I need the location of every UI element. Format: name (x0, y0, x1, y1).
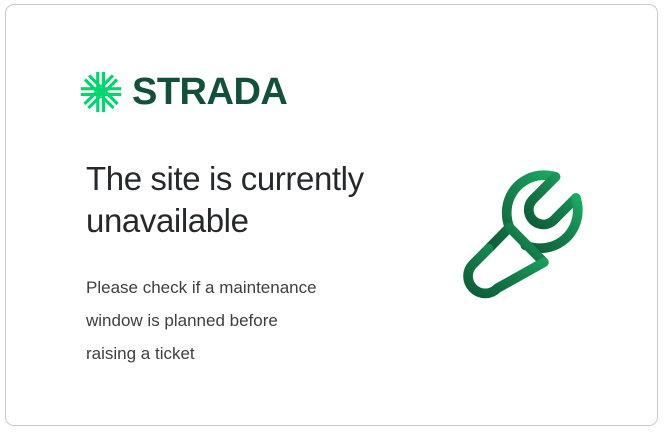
page-description: Please check if a maintenance window is … (86, 271, 406, 370)
brand-lockup: STRADA (80, 71, 287, 113)
wrench-illustration (461, 155, 616, 315)
maintenance-page: STRADA The site is currently unavailable… (0, 0, 666, 436)
brand-wordmark: STRADA (132, 73, 287, 111)
wrench-icon (461, 155, 616, 315)
description-line: Please check if a maintenance (86, 271, 406, 304)
asterisk-star-icon (80, 71, 122, 113)
description-line: raising a ticket (86, 337, 406, 370)
page-title: The site is currently unavailable (86, 158, 416, 242)
status-card: STRADA The site is currently unavailable… (5, 4, 658, 426)
description-line: window is planned before (86, 304, 406, 337)
